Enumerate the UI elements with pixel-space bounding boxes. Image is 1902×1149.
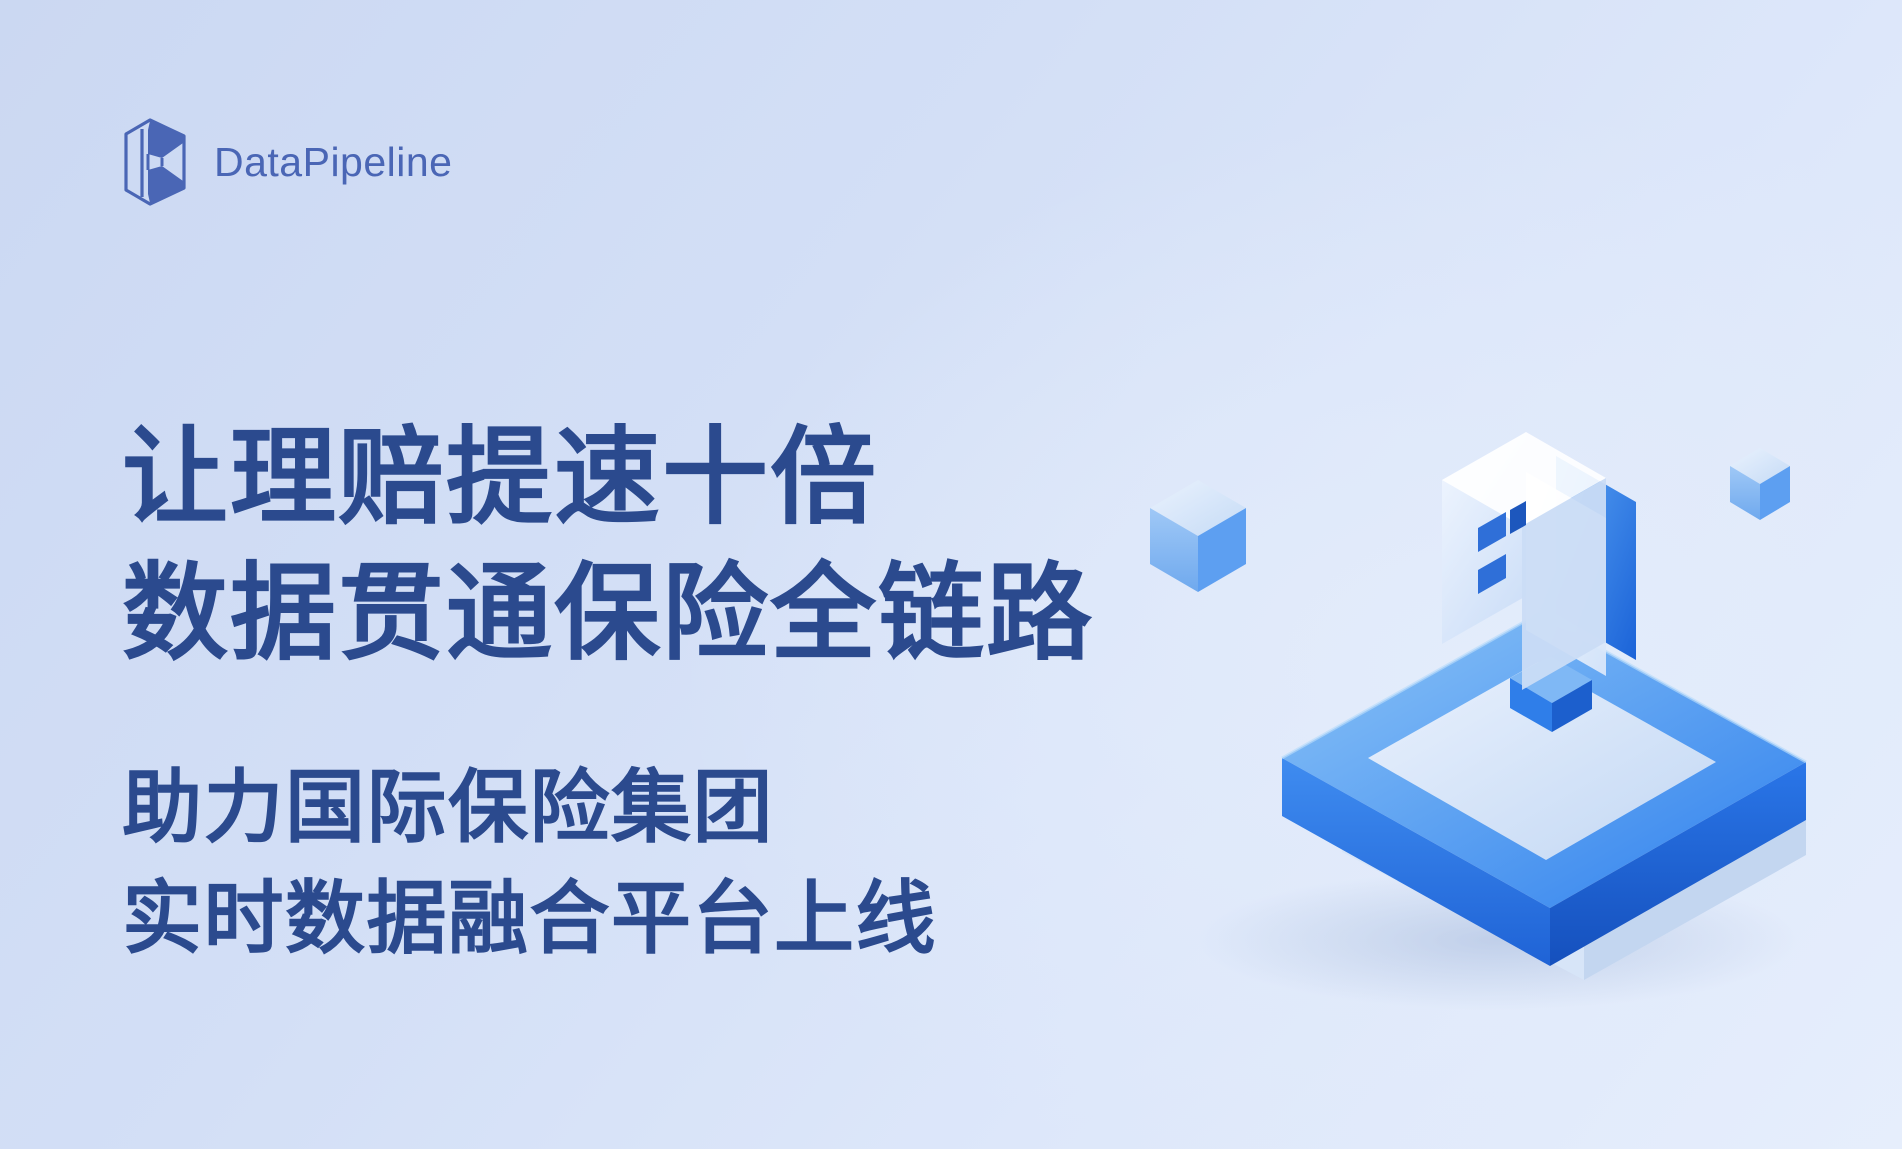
headline-line-1: 让理赔提速十倍 xyxy=(122,411,1122,547)
floating-cube-left xyxy=(1150,480,1246,592)
page-subtitle: 助力国际保险集团 实时数据融合平台上线 xyxy=(122,753,1122,974)
page-title: 让理赔提速十倍 数据贯通保险全链路 xyxy=(122,411,1122,682)
copy-block: 让理赔提速十倍 数据贯通保险全链路 助力国际保险集团 实时数据融合平台上线 xyxy=(122,340,1122,1041)
brand-logo-lockup[interactable]: DataPipeline xyxy=(122,116,453,208)
subhead-line-2: 实时数据融合平台上线 xyxy=(122,864,1122,974)
subhead-line-1: 助力国际保险集团 xyxy=(122,753,1122,863)
datapipeline-logo-icon xyxy=(122,116,188,208)
brand-name: DataPipeline xyxy=(214,142,453,183)
isometric-data-platform-illustration xyxy=(1106,360,1866,1060)
headline-line-2: 数据贯通保险全链路 xyxy=(122,547,1122,683)
poster-canvas: DataPipeline 让理赔提速十倍 数据贯通保险全链路 助力国际保险集团 … xyxy=(0,0,1902,1149)
floating-cube-right xyxy=(1730,448,1790,520)
